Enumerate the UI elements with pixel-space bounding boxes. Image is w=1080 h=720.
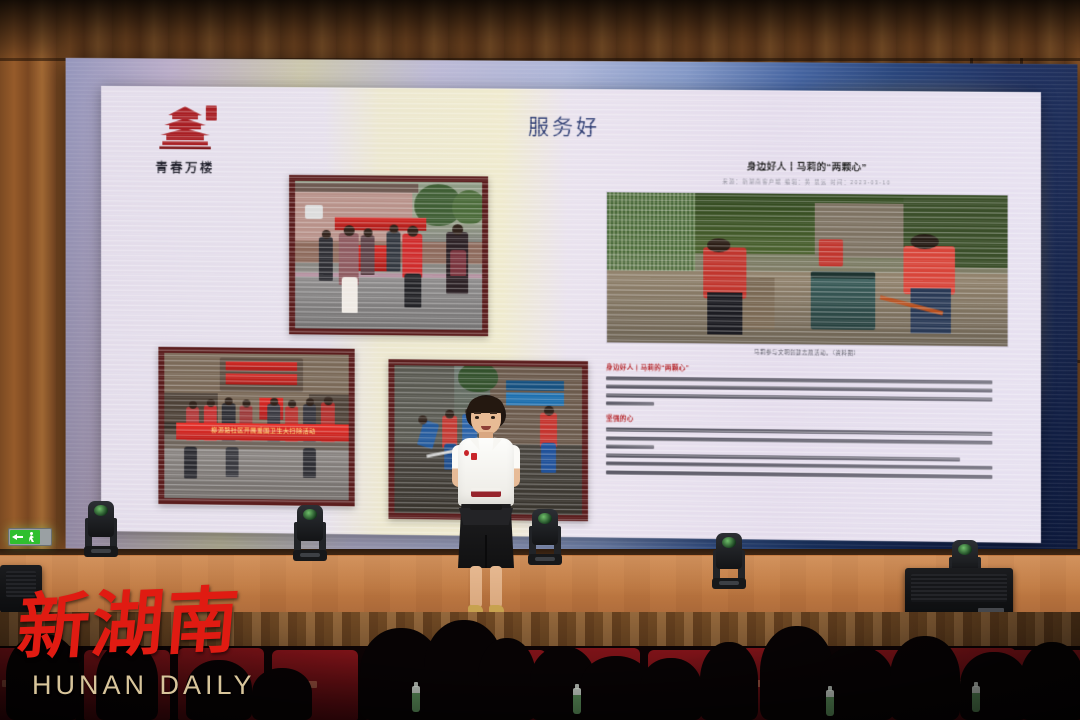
- article-photo: [606, 191, 1009, 347]
- presentation-slide: 青春万楼 服务好: [101, 86, 1041, 543]
- moving-head-light-2: [293, 503, 327, 561]
- photo-banner-text: 柳源路社区开展爱国卫生大扫除活动: [176, 423, 351, 442]
- article-panel: 身边好人丨马莉的“两颗心” 来源：新湖南客户端 编辑：黄 思远 时间：2023-…: [606, 157, 1009, 522]
- presenter: [440, 395, 532, 617]
- article-photo-caption: 马莉参与文明创建志愿活动。（资料图）: [606, 346, 1009, 358]
- running-man-exit-icon: [10, 530, 40, 544]
- article-lead-title: 身边好人丨马莉的“两颗心”: [606, 361, 1009, 375]
- article-section-title: 坚强的心: [606, 413, 1009, 428]
- emergency-exit-sign: [8, 528, 52, 546]
- slide-brand: 青春万楼: [131, 104, 240, 176]
- led-display-screen: 青春万楼 服务好: [66, 58, 1078, 562]
- moving-head-light-1: [84, 499, 118, 557]
- brand-name: 青春万楼: [131, 157, 240, 177]
- moving-head-light-4: [712, 531, 746, 589]
- speech-cards: [471, 488, 501, 497]
- article-headline: 身边好人丨马莉的“两颗心”: [606, 157, 1009, 174]
- moving-head-light-3: [528, 507, 562, 565]
- watermark-english: HUNAN DAILY: [32, 670, 348, 701]
- watermark-chinese: 新湖南: [14, 582, 351, 662]
- pagoda-icon: [157, 104, 212, 150]
- stage-monitor-speaker: [905, 568, 1013, 618]
- community-gate-banner-photo: 柳源路社区开展爱国卫生大扫除活动: [158, 347, 354, 507]
- article-byline: 来源：新湖南客户端 编辑：黄 思远 时间：2023-03-10: [606, 177, 1009, 187]
- slide-title: 服务好: [528, 111, 600, 142]
- community-event-photo: [289, 175, 488, 336]
- ceiling-shadow: [0, 0, 1080, 58]
- watermark: 新湖南 HUNAN DAILY: [18, 588, 348, 714]
- auditorium-stage-scene: 青春万楼 服务好: [0, 0, 1080, 720]
